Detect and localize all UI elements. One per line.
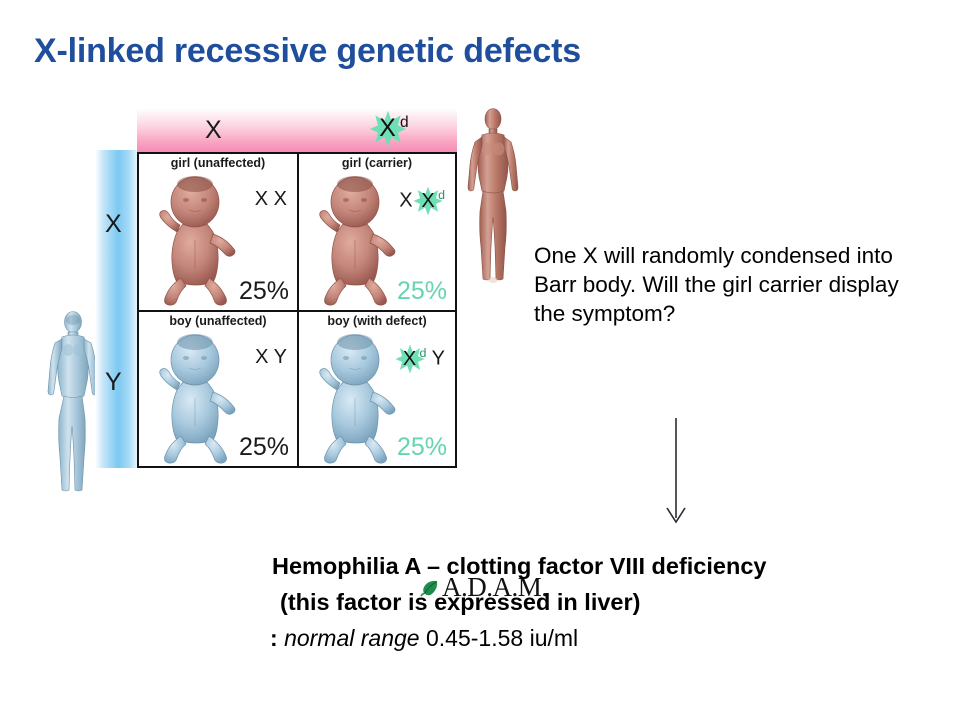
cell-caption: boy (with defect)	[299, 314, 455, 328]
punnett-cell-girl-carrier: girl (carrier)	[297, 154, 455, 310]
cell-genotype: X d Y	[400, 346, 445, 371]
cell-genotype: X X	[255, 188, 287, 211]
genotype-allele-2: X	[274, 188, 287, 210]
punnett-grid: girl (unaffected)	[137, 152, 457, 468]
genotype-allele-1: X	[399, 190, 412, 212]
genotype-allele-1-highlight: X	[400, 348, 420, 371]
cell-percent: 25%	[239, 433, 289, 462]
genotype-allele-2: X	[421, 190, 434, 212]
punnett-cell-boy-with-defect: boy (with defect)	[297, 310, 455, 466]
down-arrow-icon	[648, 418, 704, 526]
cell-caption: girl (unaffected)	[139, 156, 297, 170]
boy-baby-image	[143, 328, 247, 466]
cell-percent: 25%	[397, 433, 447, 462]
genotype-allele-1: X	[255, 188, 268, 210]
cell-caption: girl (carrier)	[299, 156, 455, 170]
girl-baby-image	[143, 170, 247, 308]
cell-genotype: X Y	[255, 346, 287, 369]
cell-percent: 25%	[397, 277, 447, 306]
maternal-allele-header-bar: X X d	[137, 108, 457, 152]
boy-baby-image	[303, 328, 407, 466]
maternal-allele-x-label: X	[205, 116, 222, 145]
punnett-square-figure: X X d X Y girl (unaffected)	[20, 100, 540, 510]
paternal-allele-y-label: Y	[105, 368, 122, 397]
paternal-allele-side-bar: X Y	[95, 150, 137, 468]
genotype-allele-1: X	[255, 346, 268, 368]
genotype-allele-2-highlight: X	[418, 190, 438, 213]
cell-caption: boy (unaffected)	[139, 314, 297, 328]
range-unit: iu/ml	[530, 625, 579, 651]
allele-glyph: X	[379, 114, 396, 142]
cell-percent: 25%	[239, 277, 289, 306]
genotype-allele-1: X	[403, 348, 416, 370]
hemophilia-range-line: : normal range 0.45-1.58 iu/ml	[270, 620, 950, 656]
punnett-cell-girl-unaffected: girl (unaffected)	[139, 154, 297, 310]
female-anatomy-figure	[457, 105, 529, 290]
punnett-cell-boy-unaffected: boy (unaffected)	[139, 310, 297, 466]
hemophilia-liver-line: (this factor is expressed in liver)	[280, 584, 950, 620]
girl-baby-image	[303, 170, 407, 308]
barr-body-note: One X will randomly condensed into Barr …	[534, 241, 914, 328]
paternal-allele-x-label: X	[105, 210, 122, 239]
page-title: X-linked recessive genetic defects	[34, 32, 581, 71]
maternal-allele-xd-label: X d	[375, 114, 409, 143]
cell-genotype: X X d	[399, 188, 445, 213]
range-colon: :	[270, 625, 278, 651]
hemophilia-text-block: Hemophilia A – clotting factor VIII defi…	[250, 548, 950, 656]
hemophilia-title-line: Hemophilia A – clotting factor VIII defi…	[272, 548, 950, 584]
range-label: normal range	[284, 625, 420, 651]
genotype-allele-2: Y	[432, 348, 445, 370]
range-value: 0.45-1.58	[426, 625, 523, 651]
genotype-allele-2: Y	[274, 346, 287, 368]
